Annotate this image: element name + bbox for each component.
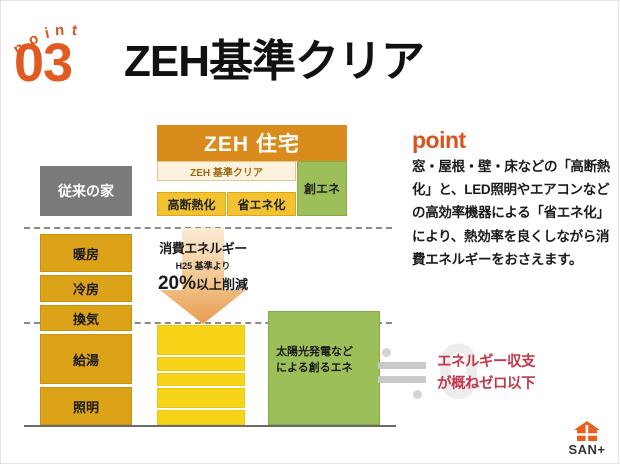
sub-box-high-insulation: 高断熱化 [157, 192, 226, 216]
brand-logo: SAN+ [560, 421, 614, 459]
energy-balance-line2: が概ねゼロ以下 [437, 374, 607, 396]
down-arrow-icon [160, 228, 246, 324]
energy-reduction-arrow: 消費エネルギー H25 基準より 20%以上削減 [160, 228, 246, 324]
solar-text-line1: 太陽光発電など [276, 345, 374, 361]
point-number: 03 [14, 36, 72, 90]
energy-balance-text: エネルギー収支 が概ねゼロ以下 [437, 352, 607, 396]
point-panel-heading: point [412, 127, 466, 154]
energy-balance-line1: エネルギー収支 [437, 352, 607, 374]
conventional-house-label: 従来の家 [40, 166, 132, 216]
brand-logo-text: SAN+ [560, 442, 614, 457]
bar-left-ventilation: 換気 [40, 305, 132, 331]
scale-dot-upper-icon [382, 348, 391, 357]
bar-center-lighting [157, 410, 245, 425]
equals-bar-bottom [378, 376, 426, 383]
bar-center-hot-water [157, 388, 245, 408]
scale-dot-lower-icon [413, 390, 422, 399]
house-icon [574, 421, 600, 441]
equals-bar-top [378, 362, 426, 369]
sub-box-energy-creation: 創エネ [297, 161, 347, 216]
solar-energy-text: 太陽光発電など による創るエネ [276, 345, 374, 377]
sub-box-energy-saving: 省エネ化 [227, 192, 296, 216]
page-title: ZEH基準クリア [124, 38, 424, 86]
solar-text-line2: による創るエネ [276, 361, 374, 377]
bar-center-cooling [157, 357, 245, 371]
bar-left-cooling: 冷房 [40, 275, 132, 302]
bar-center-ventilation [157, 373, 245, 386]
bar-left-lighting: 照明 [40, 387, 132, 425]
bar-center-heating [157, 325, 245, 355]
zeh-house-header: ZEH 住宅 [157, 125, 347, 161]
equals-sign-icon [378, 362, 426, 384]
zeh-criteria-label: ZEH 基準クリア [157, 161, 296, 181]
infographic-root: p o i n t 03 ZEH基準クリア ZEH 住宅 ZEH 基準クリア 高… [0, 0, 620, 465]
point-panel-body: 窓・屋根・壁・床などの「高断熱化」と、LED照明やエアコンなどの高効率機器による… [412, 155, 610, 271]
chart-baseline [24, 425, 396, 427]
bar-left-heating: 暖房 [40, 234, 132, 272]
bar-left-hot-water: 給湯 [40, 334, 132, 384]
